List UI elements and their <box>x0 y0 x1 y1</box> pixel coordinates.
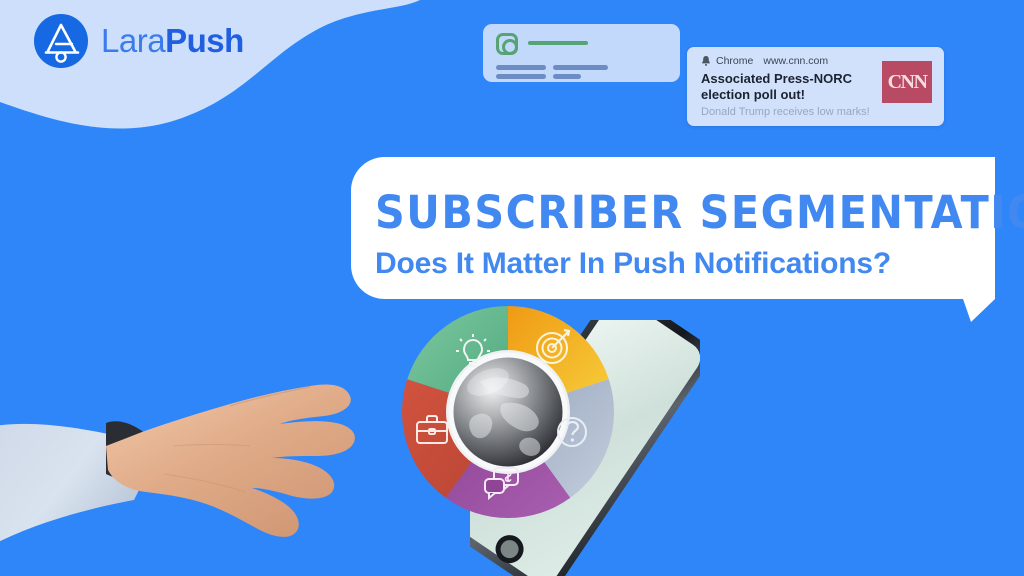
notification-subtext: Donald Trump receives low marks! <box>701 106 870 118</box>
cnn-logo-icon: CNN <box>882 61 932 103</box>
larapush-triangle-logo-icon <box>34 14 88 68</box>
notification-source-row: Chrome www.cnn.com <box>701 55 828 67</box>
notification-browser-name: Chrome <box>716 55 753 67</box>
cnn-logo-text: CNN <box>888 71 927 94</box>
hero-title-card: SUBSCRIBER SEGMENTATION Does It Matter I… <box>351 157 995 322</box>
chrome-bell-icon <box>701 55 711 67</box>
notification-body-line <box>553 65 608 70</box>
page-subtitle: Does It Matter In Push Notifications? <box>375 247 985 281</box>
notification-headline: Associated Press-NORC election poll out! <box>701 71 891 104</box>
notification-body-line <box>496 65 546 70</box>
brand-name-bold: Push <box>165 22 244 59</box>
reaching-hand-illustration <box>0 286 384 576</box>
brand-name: LaraPush <box>101 22 244 60</box>
cnn-notification-card[interactable]: Chrome www.cnn.com Associated Press-NORC… <box>687 47 944 126</box>
brand-logo[interactable]: LaraPush <box>34 14 244 68</box>
poster-canvas: LaraPush Chrome www.cnn.com Associated P… <box>0 0 1024 576</box>
subscriber-segment-donut-chart <box>398 302 618 522</box>
notification-body-line <box>553 74 581 79</box>
speech-bubble-shape <box>351 157 995 322</box>
notification-body-line <box>496 74 546 79</box>
brand-name-light: Lara <box>101 22 165 59</box>
generic-notification-card[interactable] <box>483 24 680 82</box>
notification-url: www.cnn.com <box>763 55 828 67</box>
page-title: SUBSCRIBER SEGMENTATION <box>375 186 987 239</box>
rounded-square-circle-icon <box>496 33 518 55</box>
notification-title-placeholder <box>528 41 588 45</box>
